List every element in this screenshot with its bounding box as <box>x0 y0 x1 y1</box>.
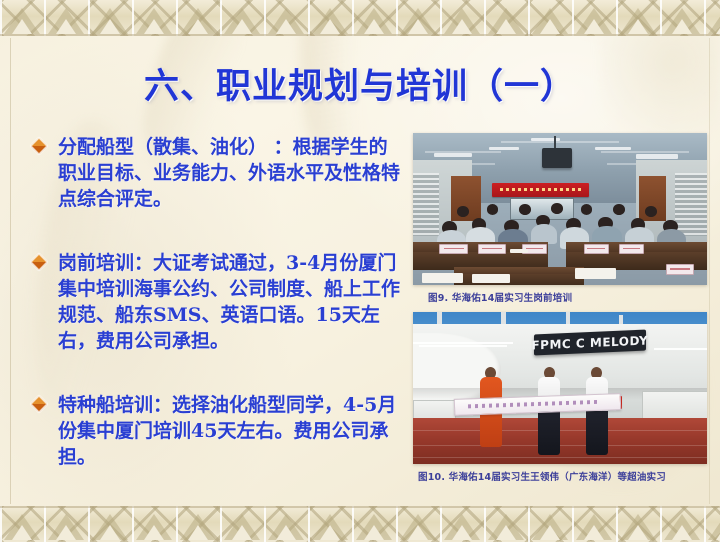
page-title: 六、职业规划与培训（一） <box>0 58 720 109</box>
bullet-text: 分配船型（散集、油化） ：根据学生的职业目标、业务能力、外语水平及性格特点综合评… <box>58 136 400 210</box>
decorative-border-bottom <box>0 506 720 542</box>
photo-classroom <box>413 133 707 285</box>
bullet-text: 岗前培训：大证考试通过，3-4月份厦门集中培训海事公约、公司制度、船上工作规范、… <box>58 252 400 352</box>
bullet-text: 特种船培训：选择油化船型同学，4-5月份集中厦门培训45天左右。费用公司承担。 <box>58 394 396 468</box>
diamond-bullet-icon <box>32 397 46 411</box>
border-triangle-row <box>0 506 720 542</box>
slide: 六、职业规划与培训（一） 分配船型（散集、油化） ：根据学生的职业目标、业务能力… <box>0 0 720 542</box>
bullet-item: 特种船培训：选择油化船型同学，4-5月份集中厦门培训45天左右。费用公司承担。 <box>26 392 406 470</box>
ship-name-text: FPMC C MELODY <box>531 333 648 352</box>
diamond-bullet-icon <box>32 139 46 153</box>
border-triangle-row <box>0 0 720 36</box>
photo-caption: 图9. 华海佑14届实习生岗前培训 <box>428 290 572 304</box>
diamond-bullet-icon <box>32 255 46 269</box>
decorative-border-top <box>0 0 720 36</box>
photo-caption: 图10. 华海佑14届实习生王领伟（广东海洋）等超油实习 <box>418 469 666 483</box>
bullet-item: 分配船型（散集、油化） ：根据学生的职业目标、业务能力、外语水平及性格特点综合评… <box>26 134 406 212</box>
photo-ship-deck: FPMC C MELODY <box>413 312 707 464</box>
crew-member <box>584 367 610 457</box>
bullet-item: 岗前培训：大证考试通过，3-4月份厦门集中培训海事公约、公司制度、船上工作规范、… <box>26 250 406 354</box>
body-content: 分配船型（散集、油化） ：根据学生的职业目标、业务能力、外语水平及性格特点综合评… <box>26 134 406 496</box>
